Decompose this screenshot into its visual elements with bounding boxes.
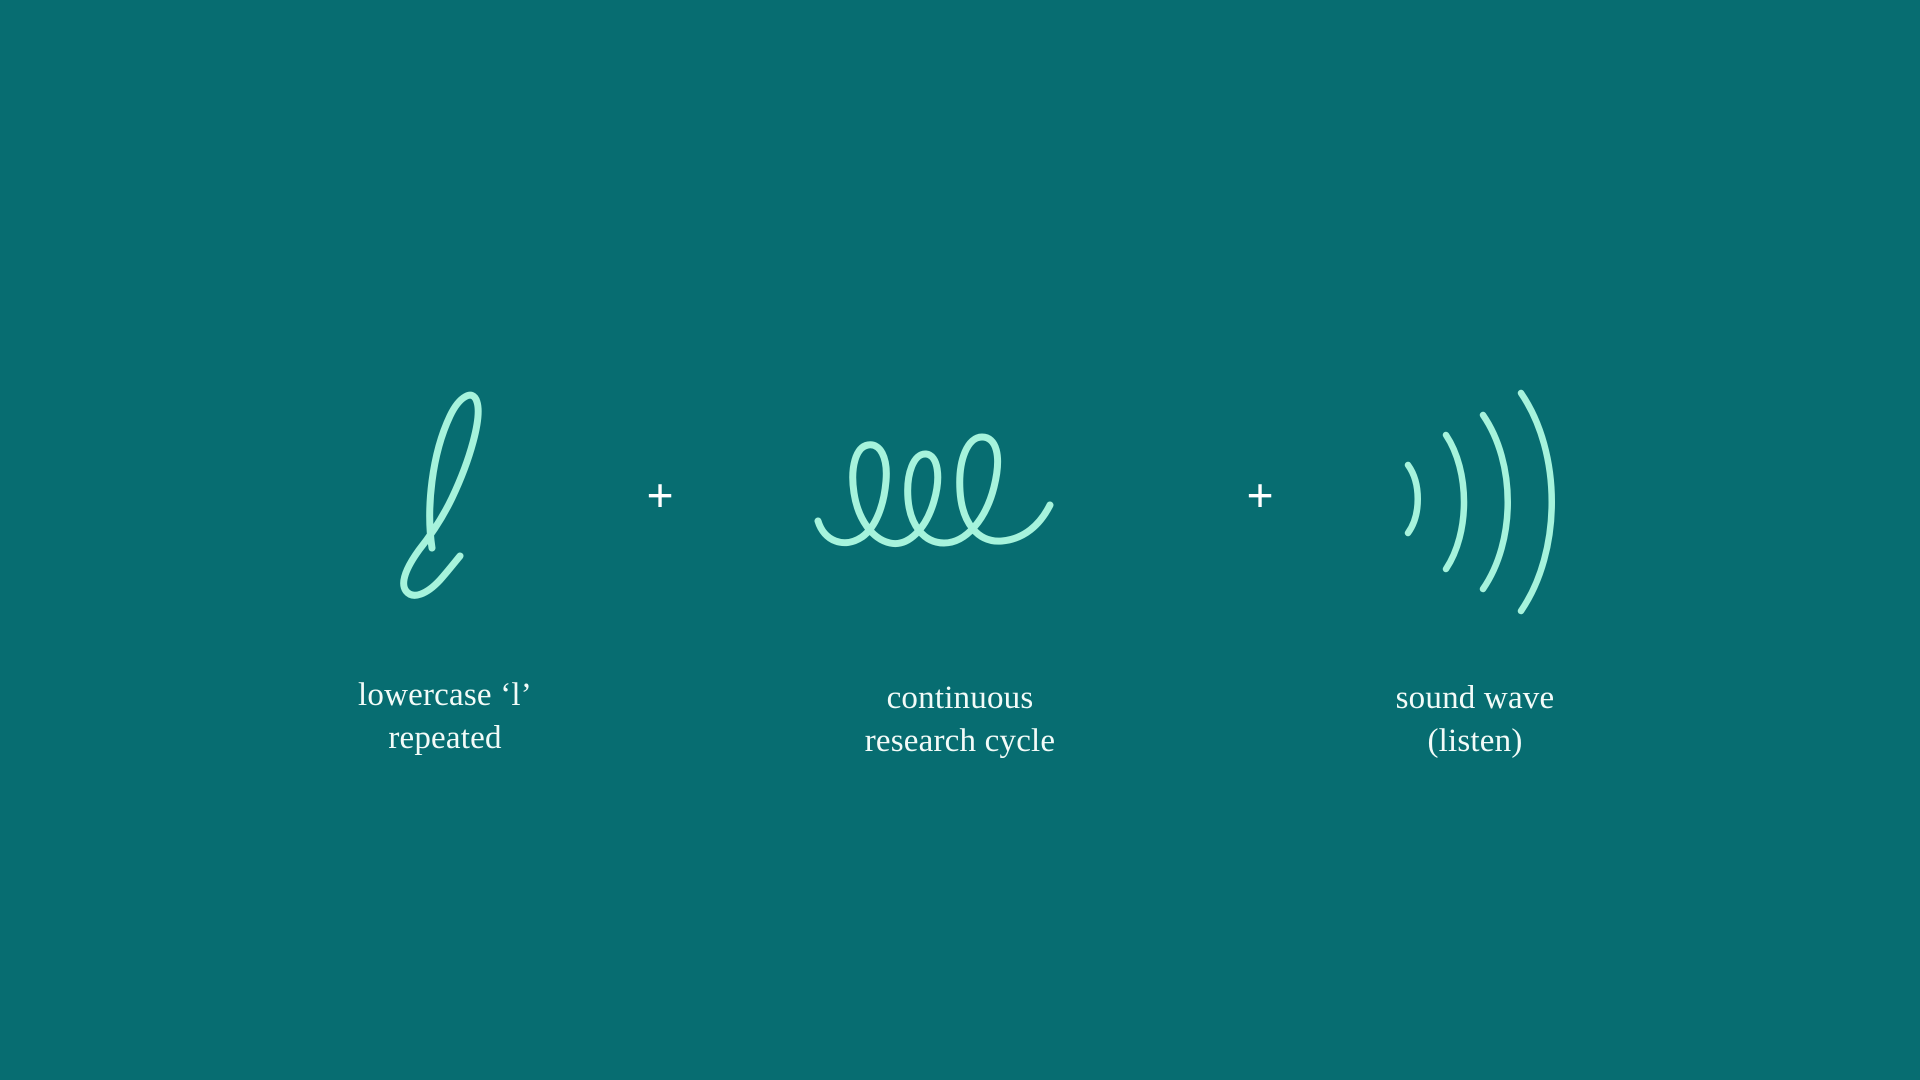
concept-caption-sound-wave: sound wave (listen) bbox=[1396, 677, 1555, 762]
concept-strip: lowercase ‘l’ repeated + continuous rese… bbox=[0, 0, 1920, 1080]
concept-loops: continuous research cycle bbox=[725, 330, 1195, 762]
plus-separator-2: + bbox=[1247, 330, 1274, 660]
logo-concept-board: lowercase ‘l’ repeated + continuous rese… bbox=[0, 0, 1920, 1080]
concept-caption-loops: continuous research cycle bbox=[865, 677, 1056, 762]
concept-caption-lowercase-l: lowercase ‘l’ repeated bbox=[358, 674, 532, 759]
separator-cell-2: + bbox=[1195, 330, 1325, 660]
plus-icon: + bbox=[1247, 472, 1274, 518]
cursive-lowercase-l-glyph bbox=[370, 330, 520, 660]
concept-lowercase-l: lowercase ‘l’ repeated bbox=[295, 330, 595, 759]
plus-icon: + bbox=[647, 472, 674, 518]
three-cursive-loops-glyph bbox=[810, 330, 1110, 660]
concept-sound-wave: sound wave (listen) bbox=[1325, 330, 1625, 762]
sound-wave-arcs-glyph bbox=[1390, 330, 1560, 660]
plus-separator-1: + bbox=[647, 330, 674, 660]
separator-cell-1: + bbox=[595, 330, 725, 660]
